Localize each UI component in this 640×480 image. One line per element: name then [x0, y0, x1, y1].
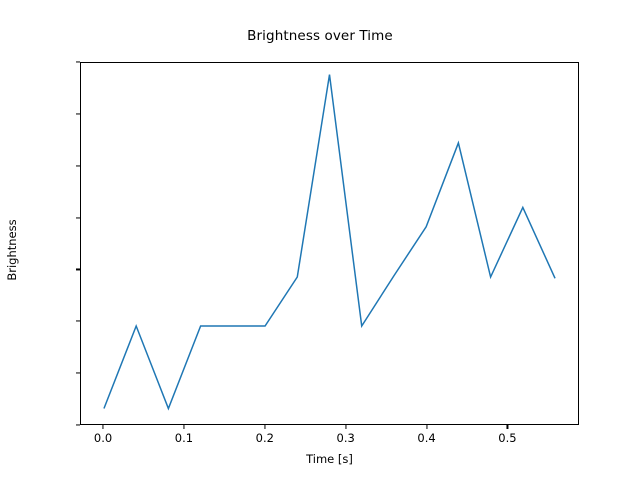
x-tick-mark	[183, 425, 184, 429]
data-series-brightness	[104, 75, 555, 409]
x-tick-mark	[507, 425, 508, 429]
x-tick-mark	[426, 425, 427, 429]
x-axis-label: Time [s]	[80, 452, 579, 466]
x-tick-label: 0.4	[417, 431, 435, 445]
x-tick-mark	[264, 425, 265, 429]
x-tick-label: 0.1	[175, 431, 193, 445]
figure-canvas: Brightness over Time Brightness Time [s]…	[0, 0, 640, 480]
chart-title: Brightness over Time	[0, 28, 640, 44]
y-axis-label: Brightness	[5, 175, 19, 325]
plot-axes-area	[80, 62, 579, 425]
x-tick-mark	[103, 425, 104, 429]
x-tick-mark	[345, 425, 346, 429]
x-tick-label: 0.2	[256, 431, 274, 445]
x-tick-label: 0.5	[498, 431, 516, 445]
x-tick-label: 0.0	[94, 431, 112, 445]
x-tick-label: 0.3	[337, 431, 355, 445]
line-plot	[81, 63, 578, 424]
